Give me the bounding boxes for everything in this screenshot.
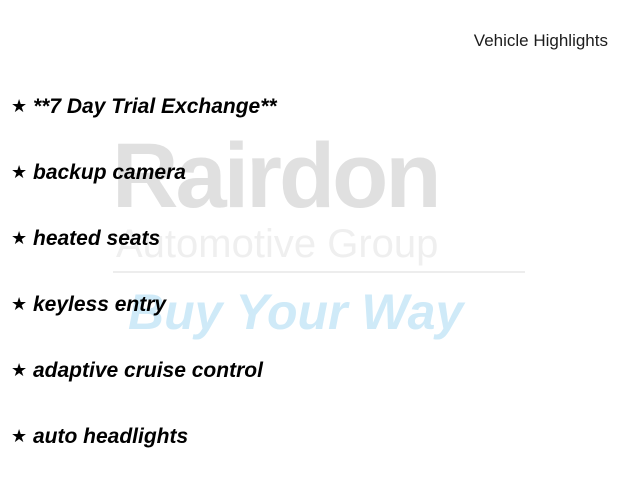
star-icon: ★ [11, 96, 33, 118]
list-item: ★ **7 Day Trial Exchange** [0, 96, 640, 118]
highlight-label: adaptive cruise control [33, 359, 263, 383]
highlight-label: **7 Day Trial Exchange** [33, 95, 277, 119]
vehicle-highlights-list: ★ **7 Day Trial Exchange** ★ backup came… [0, 96, 640, 480]
star-icon: ★ [11, 426, 33, 448]
star-icon: ★ [11, 360, 33, 382]
list-item: ★ keyless entry [0, 294, 640, 316]
star-icon: ★ [11, 228, 33, 250]
list-item: ★ adaptive cruise control [0, 360, 640, 382]
star-icon: ★ [11, 162, 33, 184]
highlight-label: backup camera [33, 161, 186, 185]
highlight-label: keyless entry [33, 293, 166, 317]
star-icon: ★ [11, 294, 33, 316]
content-layer: Vehicle Highlights ★ **7 Day Trial Excha… [0, 0, 640, 480]
highlight-label: heated seats [33, 227, 160, 251]
highlight-label: auto headlights [33, 425, 188, 449]
vehicle-highlights-page: Rairdon Automotive Group Buy Your Way Ve… [0, 0, 640, 480]
list-item: ★ heated seats [0, 228, 640, 250]
page-title: Vehicle Highlights [474, 31, 608, 51]
list-item: ★ backup camera [0, 162, 640, 184]
list-item: ★ auto headlights [0, 426, 640, 448]
